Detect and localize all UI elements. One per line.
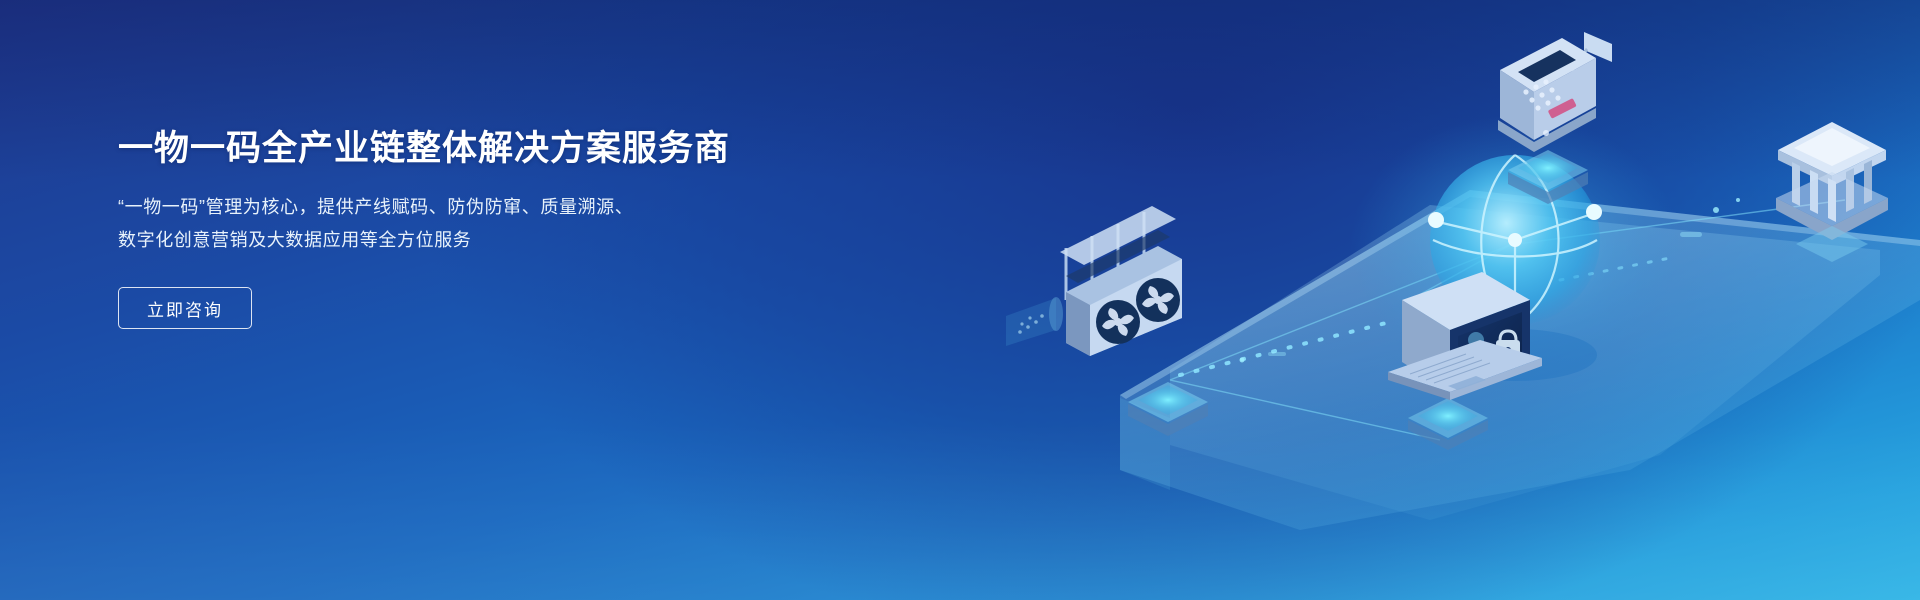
server-rack-fan-icon bbox=[1006, 206, 1182, 356]
subcopy-line-2: 数字化创意营销及大数据应用等全方位服务 bbox=[118, 224, 838, 257]
hero-copy-block: 一物一码全产业链整体解决方案服务商 “一物一码”管理为核心，提供产线赋码、防伪防… bbox=[118, 128, 838, 329]
page-title: 一物一码全产业链整体解决方案服务商 bbox=[118, 128, 838, 170]
consult-now-button[interactable]: 立即咨询 bbox=[118, 287, 252, 329]
airflow-cone bbox=[1006, 297, 1063, 346]
subcopy-line-1: “一物一码”管理为核心，提供产线赋码、防伪防窜、质量溯源、 bbox=[118, 191, 838, 224]
isometric-illustration bbox=[870, 0, 1920, 600]
hero-banner: 一物一码全产业链整体解决方案服务商 “一物一码”管理为核心，提供产线赋码、防伪防… bbox=[0, 0, 1920, 600]
hero-subcopy: “一物一码”管理为核心，提供产线赋码、防伪防窜、质量溯源、 数字化创意营销及大数… bbox=[118, 191, 838, 257]
